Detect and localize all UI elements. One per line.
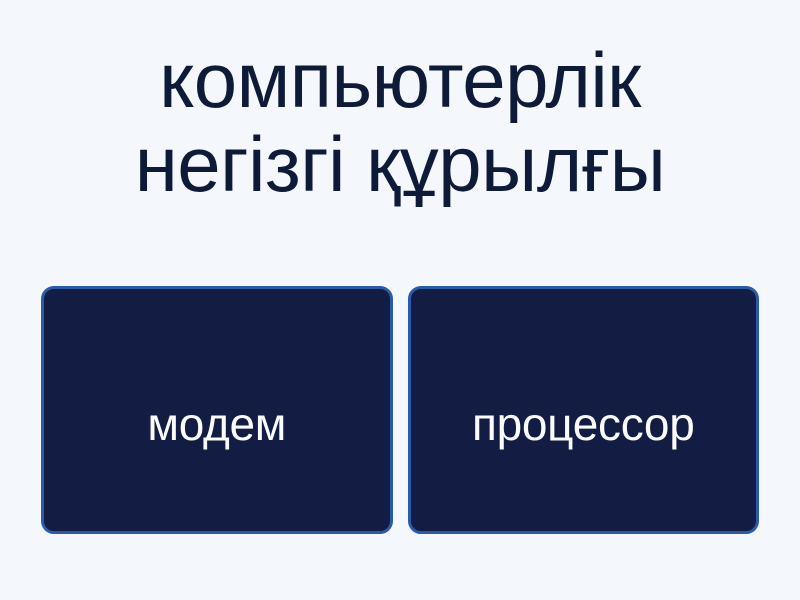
question-line-1: компьютерлік	[14, 38, 786, 122]
answer-option-2[interactable]: процессор	[408, 286, 760, 534]
answer-options-row: модем процессор	[41, 286, 759, 534]
question-line-2: негізгі құрылғы	[14, 122, 786, 206]
question-prompt: компьютерлік негізгі құрылғы	[0, 38, 800, 206]
answer-option-2-label: процессор	[472, 398, 694, 450]
answer-option-1[interactable]: модем	[41, 286, 393, 534]
quiz-screen: компьютерлік негізгі құрылғы модем проце…	[0, 0, 800, 600]
answer-option-1-label: модем	[147, 398, 286, 450]
